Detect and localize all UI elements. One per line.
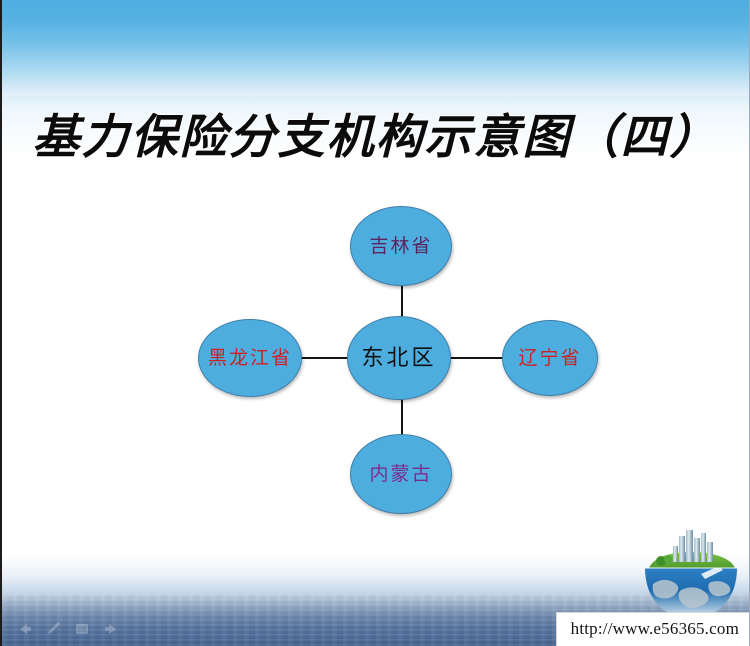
node-liaoning[interactable]: 辽宁省 xyxy=(502,320,598,396)
node-heilongjiang-label: 黑龙江省 xyxy=(208,349,292,368)
node-neimenggu[interactable]: 内蒙古 xyxy=(350,434,452,514)
page-icon[interactable] xyxy=(74,622,90,636)
node-dongbei-qu-label: 东北区 xyxy=(361,347,436,369)
node-jilin-label: 吉林省 xyxy=(369,237,432,256)
back-icon[interactable] xyxy=(16,622,34,636)
node-heilongjiang[interactable]: 黑龙江省 xyxy=(198,319,302,397)
node-liaoning-label: 辽宁省 xyxy=(518,349,581,368)
node-neimenggu-label: 内蒙古 xyxy=(369,465,432,484)
forward-icon[interactable] xyxy=(102,622,120,636)
pen-icon[interactable] xyxy=(46,622,62,636)
node-dongbei-qu[interactable]: 东北区 xyxy=(347,316,451,400)
connector-center-right xyxy=(446,357,506,359)
org-diagram: 吉林省 黑龙江省 东北区 辽宁省 内蒙古 xyxy=(2,0,750,646)
node-jilin[interactable]: 吉林省 xyxy=(350,206,452,286)
slide-nav-bar[interactable] xyxy=(16,622,120,636)
globe-city-logo xyxy=(639,528,743,624)
presentation-slide: 基力保险分支机构示意图（四） 吉林省 黑龙江省 东北区 辽宁省 内蒙古 xyxy=(0,0,750,646)
url-watermark: http://www.e56365.com xyxy=(556,612,749,646)
